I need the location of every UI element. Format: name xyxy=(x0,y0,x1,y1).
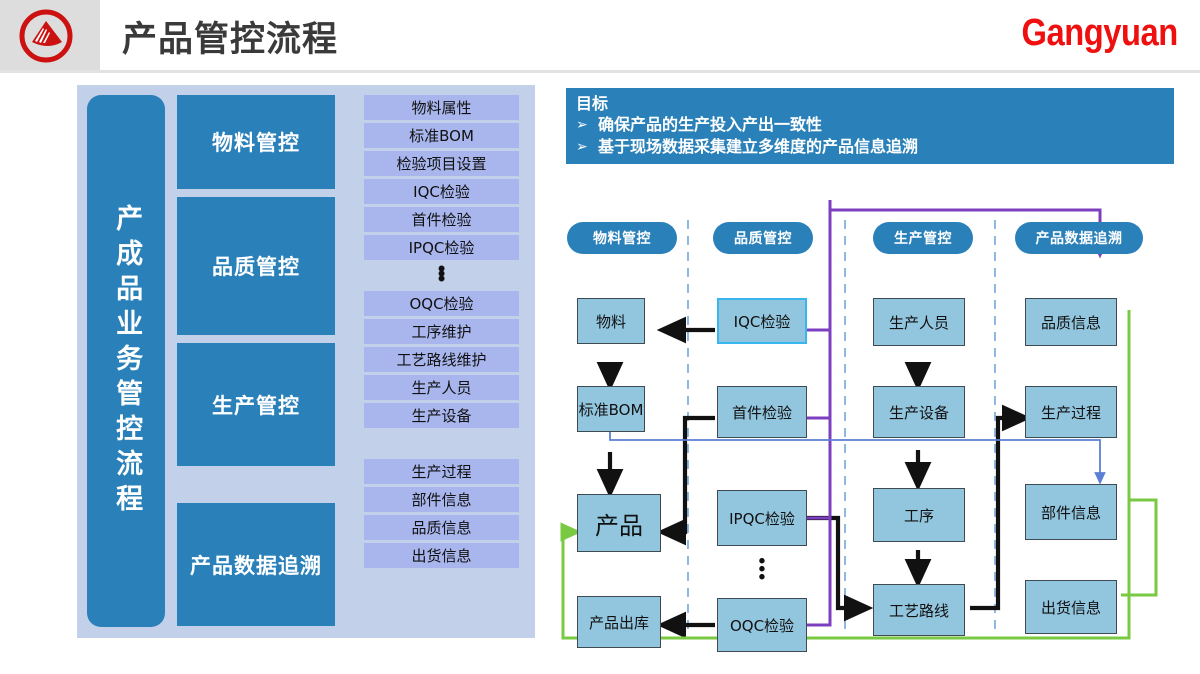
node-iqc-inspection[interactable]: IQC检验 xyxy=(717,298,807,344)
list-spacer xyxy=(364,431,519,456)
category-box-quality[interactable]: 品质管控 xyxy=(177,197,335,335)
node-product[interactable]: 产品 xyxy=(577,494,661,552)
list-item[interactable]: 检验项目设置 xyxy=(364,151,519,176)
panel-item-list: 物料属性 标准BOM 检验项目设置 IQC检验 首件检验 IPQC检验 ••• … xyxy=(364,95,519,571)
page-title: 产品管控流程 xyxy=(122,11,338,62)
node-shipment-info[interactable]: 出货信息 xyxy=(1025,580,1117,634)
node-production-equipment[interactable]: 生产设备 xyxy=(873,386,965,438)
node-ipqc-inspection[interactable]: IPQC检验 xyxy=(717,490,807,546)
list-item[interactable]: 首件检验 xyxy=(364,207,519,232)
category-box-production[interactable]: 生产管控 xyxy=(177,343,335,466)
goal-bullet: ➢ 基于现场数据采集建立多维度的产品信息追溯 xyxy=(576,136,1174,158)
node-oqc-inspection[interactable]: OQC检验 xyxy=(717,598,807,652)
category-box-material[interactable]: 物料管控 xyxy=(177,95,335,189)
list-item[interactable]: 生产人员 xyxy=(364,375,519,400)
node-process-step[interactable]: 工序 xyxy=(873,488,965,542)
flow-column-header-quality[interactable]: 品质管控 xyxy=(713,222,813,254)
vertical-title-text: 产成品业务管控流程 xyxy=(112,204,140,519)
node-production-staff[interactable]: 生产人员 xyxy=(873,298,965,346)
list-item[interactable]: 品质信息 xyxy=(364,515,519,540)
node-production-process-info[interactable]: 生产过程 xyxy=(1025,386,1117,438)
list-item[interactable]: IPQC检验 xyxy=(364,235,519,260)
flow-diagram: 物料管控 品质管控 生产管控 产品数据追溯 物料 标准BOM 产品 产品出库 I… xyxy=(555,200,1185,645)
goal-title: 目标 xyxy=(576,94,1174,114)
page-header: 产品管控流程 Gangyuan xyxy=(0,0,1200,72)
node-product-outbound[interactable]: 产品出库 xyxy=(577,596,661,648)
flow-column-header-material[interactable]: 物料管控 xyxy=(567,222,677,254)
list-item[interactable]: 工序维护 xyxy=(364,319,519,344)
node-process-route[interactable]: 工艺路线 xyxy=(873,584,965,636)
gangyuan-circle-logo-icon xyxy=(18,8,74,64)
list-item[interactable]: OQC检验 xyxy=(364,291,519,316)
list-item[interactable]: 工艺路线维护 xyxy=(364,347,519,372)
panel-vertical-title: 产成品业务管控流程 xyxy=(87,95,165,627)
goal-bullet-text: 基于现场数据采集建立多维度的产品信息追溯 xyxy=(598,136,918,158)
business-process-panel: 产成品业务管控流程 物料管控 品质管控 生产管控 产品数据追溯 物料属性 标准B… xyxy=(77,85,535,638)
goal-bullet-text: 确保产品的生产投入产出一致性 xyxy=(598,114,822,136)
node-quality-info[interactable]: 品质信息 xyxy=(1025,298,1117,346)
list-item[interactable]: 部件信息 xyxy=(364,487,519,512)
category-box-traceability[interactable]: 产品数据追溯 xyxy=(177,503,335,626)
list-item[interactable]: 出货信息 xyxy=(364,543,519,568)
brand-wordmark: Gangyuan xyxy=(1022,12,1178,55)
list-item[interactable]: 物料属性 xyxy=(364,95,519,120)
flow-column-header-traceability[interactable]: 产品数据追溯 xyxy=(1015,222,1143,254)
list-item[interactable]: 标准BOM xyxy=(364,123,519,148)
node-material[interactable]: 物料 xyxy=(577,298,645,344)
header-divider xyxy=(0,70,1200,73)
flow-ellipsis-icon: ••• xyxy=(750,558,774,582)
bullet-arrow-icon: ➢ xyxy=(576,136,598,158)
flow-column-header-production[interactable]: 生产管控 xyxy=(873,222,973,254)
list-ellipsis-icon: ••• xyxy=(364,263,519,288)
goal-bullet: ➢ 确保产品的生产投入产出一致性 xyxy=(576,114,1174,136)
node-first-article-inspection[interactable]: 首件检验 xyxy=(717,386,807,438)
node-standard-bom[interactable]: 标准BOM xyxy=(577,386,645,432)
goal-banner: 目标 ➢ 确保产品的生产投入产出一致性 ➢ 基于现场数据采集建立多维度的产品信息… xyxy=(566,88,1174,164)
node-component-info[interactable]: 部件信息 xyxy=(1025,484,1117,540)
list-item[interactable]: 生产设备 xyxy=(364,403,519,428)
list-item[interactable]: IQC检验 xyxy=(364,179,519,204)
list-item[interactable]: 生产过程 xyxy=(364,459,519,484)
bullet-arrow-icon: ➢ xyxy=(576,114,598,136)
